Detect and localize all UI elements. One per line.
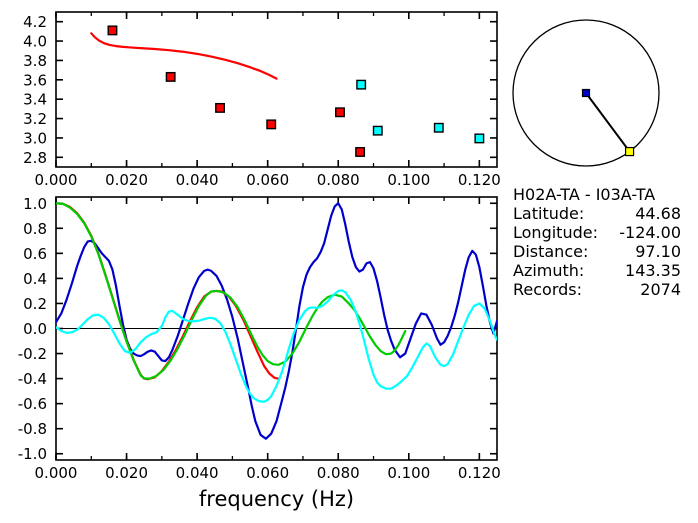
data-marker-red-observations bbox=[216, 104, 225, 113]
info-label-4: Records: bbox=[513, 280, 582, 299]
y-tick-label: 2.8 bbox=[23, 149, 47, 167]
x-tick-label: 0.060 bbox=[246, 171, 289, 189]
info-value-4: 2074 bbox=[640, 280, 681, 299]
data-marker-cyan-observations bbox=[475, 134, 484, 143]
y-tick-label: 0.4 bbox=[23, 270, 47, 288]
station-pair-title: H02A-TA - I03A-TA bbox=[513, 185, 655, 204]
y-tick-label: -1.0 bbox=[18, 445, 47, 463]
y-tick-label: -0.8 bbox=[18, 420, 47, 438]
x-tick-label: 0.100 bbox=[387, 464, 430, 482]
data-marker-red-observations bbox=[108, 26, 117, 35]
y-tick-label: 4.2 bbox=[23, 13, 47, 31]
info-label-3: Azimuth: bbox=[513, 261, 584, 280]
y-tick-label: 3.6 bbox=[23, 71, 47, 89]
y-tick-label: 3.4 bbox=[23, 91, 47, 109]
x-tick-label: 0.080 bbox=[317, 464, 360, 482]
info-value-3: 143.35 bbox=[625, 261, 681, 280]
figure-background bbox=[0, 0, 698, 519]
x-tick-label: 0.040 bbox=[176, 464, 219, 482]
y-tick-label: 3.2 bbox=[23, 110, 47, 128]
station-center-marker bbox=[583, 90, 590, 97]
y-tick-label: 3.8 bbox=[23, 52, 47, 70]
y-tick-label: 0.2 bbox=[23, 295, 47, 313]
y-tick-label: 3.0 bbox=[23, 129, 47, 147]
y-tick-label: 1.0 bbox=[23, 195, 47, 213]
figure-canvas: 0.0000.0200.0400.0600.0800.1000.1202.83.… bbox=[0, 0, 698, 519]
y-tick-label: -0.6 bbox=[18, 395, 47, 413]
x-tick-label: 0.020 bbox=[105, 464, 148, 482]
x-tick-label: 0.120 bbox=[458, 171, 501, 189]
y-tick-label: 0.0 bbox=[23, 320, 47, 338]
x-tick-label: 0.060 bbox=[246, 464, 289, 482]
y-tick-label: -0.4 bbox=[18, 370, 47, 388]
y-tick-label: 0.6 bbox=[23, 245, 47, 263]
station-remote-marker bbox=[626, 148, 634, 156]
info-value-2: 97.10 bbox=[635, 242, 681, 261]
y-tick-label: 0.8 bbox=[23, 220, 47, 238]
x-tick-label: 0.100 bbox=[387, 171, 430, 189]
seismic-dispersion-figure: 0.0000.0200.0400.0600.0800.1000.1202.83.… bbox=[0, 0, 698, 519]
info-label-0: Latitude: bbox=[513, 204, 584, 223]
info-label-2: Distance: bbox=[513, 242, 588, 261]
data-marker-cyan-observations bbox=[357, 80, 366, 89]
x-tick-label: 0.000 bbox=[35, 171, 78, 189]
data-marker-cyan-observations bbox=[435, 124, 444, 132]
data-marker-red-observations bbox=[166, 73, 175, 82]
x-tick-label: 0.040 bbox=[176, 171, 219, 189]
data-marker-cyan-observations bbox=[374, 126, 383, 135]
x-axis-label: frequency (Hz) bbox=[199, 487, 354, 511]
info-value-1: -124.00 bbox=[619, 223, 681, 242]
data-marker-red-observations bbox=[356, 148, 365, 157]
x-tick-label: 0.120 bbox=[458, 464, 501, 482]
x-tick-label: 0.080 bbox=[317, 171, 360, 189]
info-label-1: Longitude: bbox=[513, 223, 598, 242]
data-marker-red-observations bbox=[267, 120, 276, 129]
data-marker-red-observations bbox=[336, 108, 345, 117]
y-tick-label: 4.0 bbox=[23, 33, 47, 51]
x-tick-label: 0.000 bbox=[35, 464, 78, 482]
x-tick-label: 0.020 bbox=[105, 171, 148, 189]
y-tick-label: -0.2 bbox=[18, 345, 47, 363]
info-value-0: 44.68 bbox=[635, 204, 681, 223]
